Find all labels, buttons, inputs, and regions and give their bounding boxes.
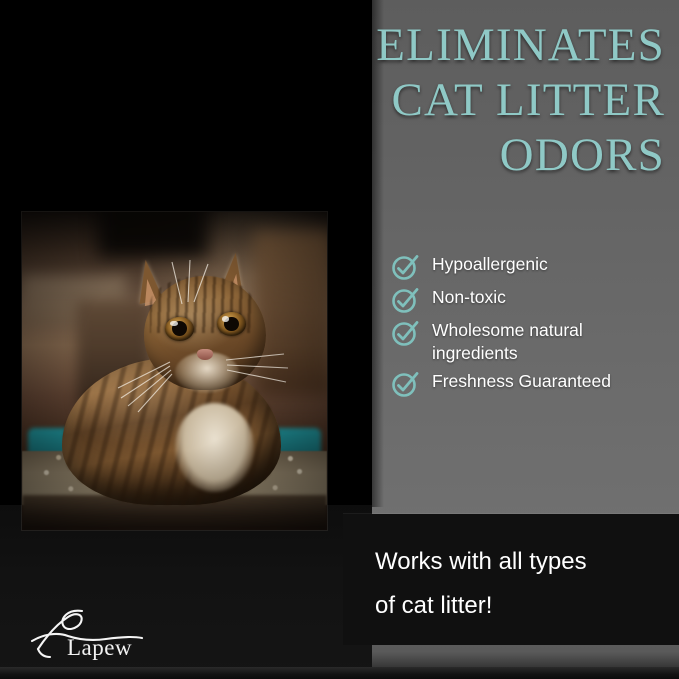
feature-label: Freshness Guaranteed: [432, 367, 611, 393]
feature-item: Hypoallergenic: [390, 250, 670, 281]
feature-label-line-1: Non-toxic: [432, 287, 506, 307]
brand-logo: Lapew: [24, 605, 184, 665]
callout-box: Works with all types of cat litter!: [343, 514, 679, 645]
headline: ELIMINATES CAT LITTER ODORS: [105, 18, 665, 183]
feature-item: Non-toxic: [390, 283, 670, 314]
headline-line-1: ELIMINATES: [105, 18, 665, 73]
background-bottom-strip: [0, 667, 679, 679]
callout-line-1: Works with all types: [375, 540, 665, 584]
feature-label: Wholesome natural ingredients: [432, 316, 583, 365]
check-circle-icon: [390, 317, 420, 347]
kitten-litter-box-photo: [22, 212, 327, 530]
callout-line-2: of cat litter!: [375, 584, 665, 628]
photo-vignette: [22, 212, 327, 530]
feature-item: Wholesome natural ingredients: [390, 316, 670, 365]
feature-label-line-2: ingredients: [432, 342, 583, 365]
feature-label: Hypoallergenic: [432, 250, 548, 276]
photo-scene: [22, 212, 327, 530]
check-circle-icon: [390, 284, 420, 314]
callout-text: Works with all types of cat litter!: [375, 540, 665, 628]
feature-label-line-1: Freshness Guaranteed: [432, 371, 611, 391]
feature-label: Non-toxic: [432, 283, 506, 309]
feature-label-line-1: Hypoallergenic: [432, 254, 548, 274]
check-circle-icon: [390, 251, 420, 281]
feature-label-line-1: Wholesome natural: [432, 320, 583, 340]
feature-list: Hypoallergenic Non-toxic Wholesome natur…: [390, 250, 670, 400]
check-circle-icon: [390, 368, 420, 398]
headline-line-2: CAT LITTER: [105, 73, 665, 128]
feature-item: Freshness Guaranteed: [390, 367, 670, 398]
headline-line-3: ODORS: [105, 128, 665, 183]
logo-wordmark: Lapew: [67, 635, 132, 661]
advertisement-creative: ELIMINATES CAT LITTER ODORS: [0, 0, 679, 679]
